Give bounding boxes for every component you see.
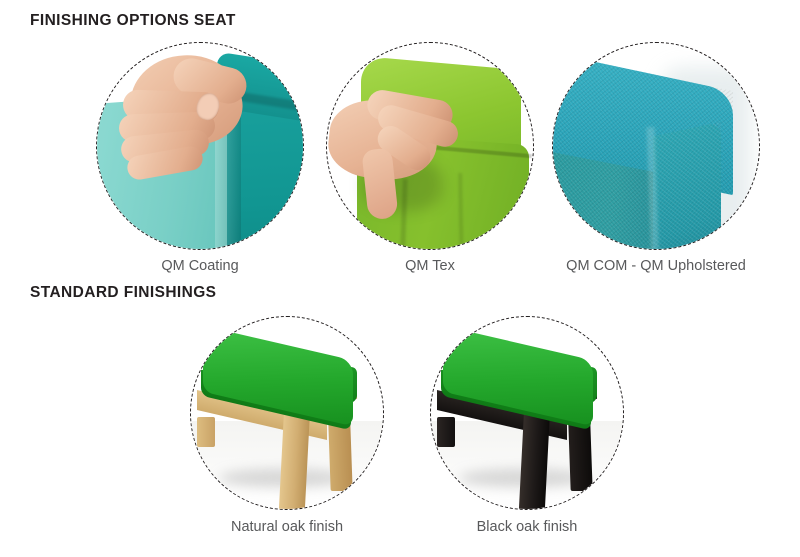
qm-com-image-circle — [552, 42, 760, 250]
natural-oak-stool-illustration — [191, 317, 383, 509]
caption-qm-tex: QM Tex — [405, 258, 455, 274]
black-oak-stool-illustration — [431, 317, 623, 509]
standard-finishing-natural-oak: Natural oak finish — [190, 316, 384, 510]
qm-coating-image-circle — [96, 42, 304, 250]
caption-black-oak-finish: Black oak finish — [477, 519, 578, 535]
black-oak-image-circle — [430, 316, 624, 510]
finishing-option-qm-com-upholstered: QM COM - QM Upholstered — [552, 42, 760, 250]
qm-tex-illustration — [327, 43, 533, 249]
standard-finishing-black-oak: Black oak finish — [430, 316, 624, 510]
finishing-option-qm-tex: QM Tex — [326, 42, 534, 250]
stool-leg-left — [197, 417, 215, 447]
stool-leg-left — [437, 417, 455, 447]
caption-natural-oak-finish: Natural oak finish — [231, 519, 343, 535]
qm-com-illustration — [553, 43, 759, 249]
fabric-weave-texture — [653, 122, 721, 250]
qm-coating-illustration — [97, 43, 303, 249]
finishing-option-qm-coating: QM Coating — [96, 42, 304, 250]
caption-qm-coating: QM Coating — [161, 258, 238, 274]
section-heading-standard-finishings: STANDARD FINISHINGS — [30, 284, 216, 302]
com-cube-right-face — [653, 122, 721, 250]
qm-tex-image-circle — [326, 42, 534, 250]
section-heading-finishing-options-seat: FINISHING OPTIONS SEAT — [30, 12, 236, 30]
natural-oak-image-circle — [190, 316, 384, 510]
caption-qm-com-upholstered: QM COM - QM Upholstered — [566, 258, 746, 274]
hand-icon — [326, 91, 471, 221]
stool-leg-front — [518, 413, 550, 510]
stool-leg-front — [278, 413, 310, 510]
hand-icon — [115, 47, 265, 197]
